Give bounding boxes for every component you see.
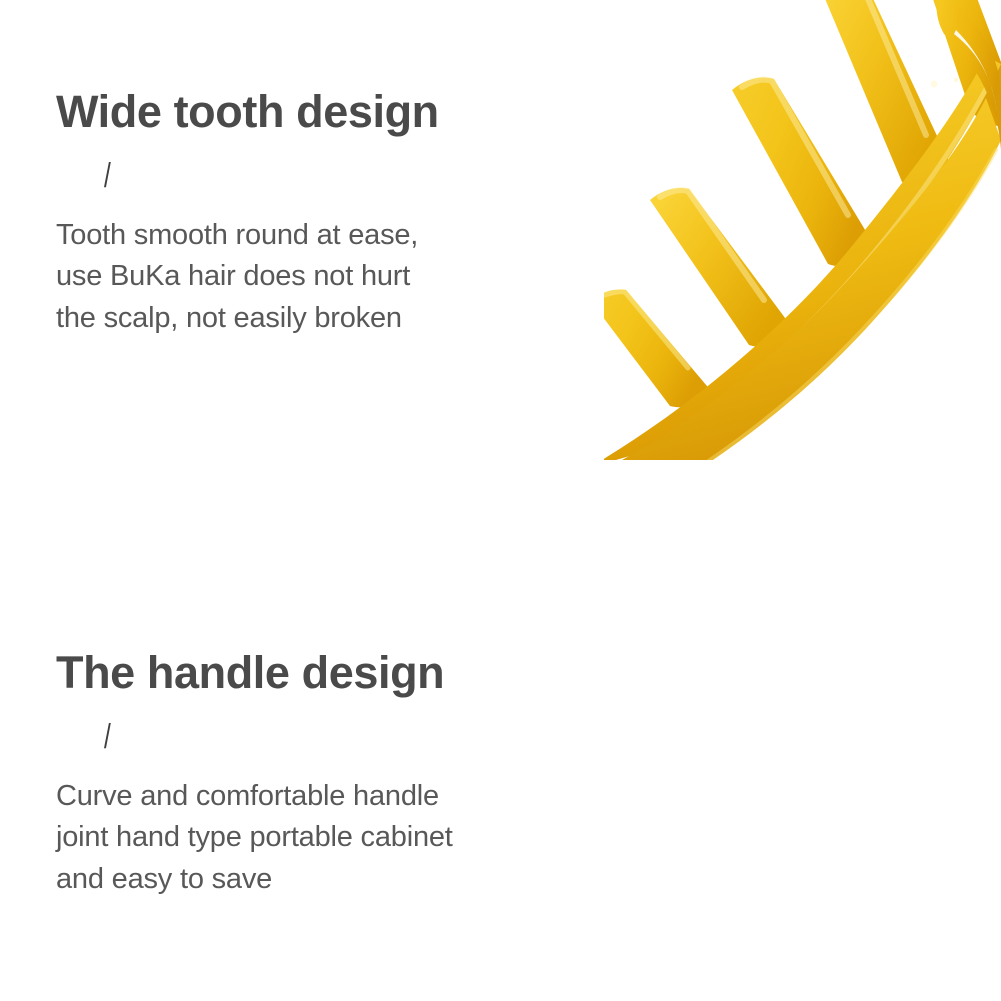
product-feature-page: Wide tooth design / Tooth smooth round a… xyxy=(0,0,1001,1001)
slash-divider-icon: / xyxy=(104,720,458,754)
description-line: joint hand type portable cabinet xyxy=(56,817,596,858)
comb-teeth-photo xyxy=(604,0,1001,460)
feature-description: Curve and comfortable handle joint hand … xyxy=(56,776,596,900)
feature-text-column: The handle design / Curve and comfortabl… xyxy=(56,649,596,900)
feature-block-the-handle-design: The handle design / Curve and comfortabl… xyxy=(0,501,1001,1001)
description-line: and easy to save xyxy=(56,859,596,900)
description-line: Curve and comfortable handle xyxy=(56,776,596,817)
comb-teeth-illustration xyxy=(604,0,1001,460)
feature-description: Tooth smooth round at ease, use BuKa hai… xyxy=(56,215,596,339)
description-line: Tooth smooth round at ease, xyxy=(56,215,596,256)
description-line: the scalp, not easily broken xyxy=(56,298,596,339)
page-title: Wide tooth design xyxy=(56,88,596,135)
slash-divider-icon: / xyxy=(104,159,458,193)
specular-highlight xyxy=(954,78,958,82)
specular-highlight xyxy=(931,81,938,88)
page-title: The handle design xyxy=(56,649,596,696)
feature-text-column: Wide tooth design / Tooth smooth round a… xyxy=(56,88,596,339)
description-line: use BuKa hair does not hurt xyxy=(56,256,596,297)
feature-block-wide-tooth-design: Wide tooth design / Tooth smooth round a… xyxy=(0,0,1001,500)
